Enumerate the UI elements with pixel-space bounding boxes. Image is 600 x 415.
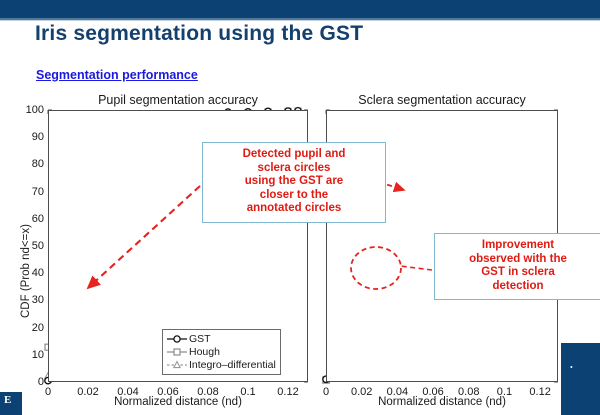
side-tab-mark: • <box>570 364 573 372</box>
x-tick-label: 0 <box>323 386 329 398</box>
callout-line: annotated circles <box>207 202 381 216</box>
x-tick-label: 0.1 <box>497 386 512 398</box>
legend-item[interactable]: Integro–differential <box>166 358 276 371</box>
x-tick-label: 0.06 <box>157 386 178 398</box>
header-bar <box>0 0 600 20</box>
callout-detected-circles: Detected pupil andsclera circlesusing th… <box>202 142 386 223</box>
page-title: Iris segmentation using the GST <box>35 22 363 46</box>
callout-line: detection <box>439 280 597 294</box>
x-tick-label: 0.12 <box>529 386 550 398</box>
y-tick-label: 90 <box>14 131 44 143</box>
callout-line: Detected pupil and <box>207 148 381 162</box>
legend-marker-hough-icon <box>166 346 188 358</box>
legend-item[interactable]: Hough <box>166 345 276 358</box>
callout-line: observed with the <box>439 253 597 267</box>
section-heading: Segmentation performance <box>36 68 198 82</box>
side-tab <box>561 343 600 415</box>
x-tick-label: 0.04 <box>117 386 138 398</box>
x-tick-label: 0.04 <box>387 386 408 398</box>
x-tick-label: 0.12 <box>277 386 298 398</box>
x-tick-label: 0 <box>45 386 51 398</box>
x-tick-label: 0.02 <box>77 386 98 398</box>
legend-item[interactable]: GST <box>166 332 276 345</box>
legend-marker-gst-icon <box>166 333 188 345</box>
y-tick-label: 0 <box>14 376 44 388</box>
x-tick-label: 0.02 <box>351 386 372 398</box>
chart-title-sclera: Sclera segmentation accuracy <box>326 93 558 107</box>
y-tick-label: 30 <box>14 294 44 306</box>
legend-label-integro: Integro–differential <box>189 359 276 371</box>
chart-title-pupil: Pupil segmentation accuracy <box>48 93 308 107</box>
legend-label-hough: Hough <box>189 346 220 358</box>
x-tick-label: 0.08 <box>197 386 218 398</box>
y-tick-label: 60 <box>14 213 44 225</box>
y-tick-label: 50 <box>14 240 44 252</box>
y-tick-label: 100 <box>14 104 44 116</box>
legend-marker-integro-icon <box>166 359 188 371</box>
callout-line: Improvement <box>439 239 597 253</box>
y-tick-label: 70 <box>14 186 44 198</box>
y-tick-label: 20 <box>14 322 44 334</box>
legend-label-gst: GST <box>189 333 211 345</box>
header-bar-sheen <box>0 18 600 21</box>
callout-line: GST in sclera <box>439 266 597 280</box>
y-tick-label: 10 <box>14 349 44 361</box>
slide-canvas: Iris segmentation using the GST Segmenta… <box>0 0 600 415</box>
x-tick-label: 0.1 <box>240 386 255 398</box>
y-tick-label: 40 <box>14 267 44 279</box>
footer-letter: E <box>4 394 11 406</box>
callout-improvement: Improvementobserved with theGST in scler… <box>434 233 600 300</box>
y-tick-label: 80 <box>14 158 44 170</box>
callout-line: using the GST are <box>207 175 381 189</box>
callout-line: sclera circles <box>207 162 381 176</box>
x-tick-label: 0.06 <box>422 386 443 398</box>
callout-line: closer to the <box>207 189 381 203</box>
chart-legend[interactable]: GST Hough Integro–differential <box>162 329 281 375</box>
x-tick-label: 0.08 <box>458 386 479 398</box>
